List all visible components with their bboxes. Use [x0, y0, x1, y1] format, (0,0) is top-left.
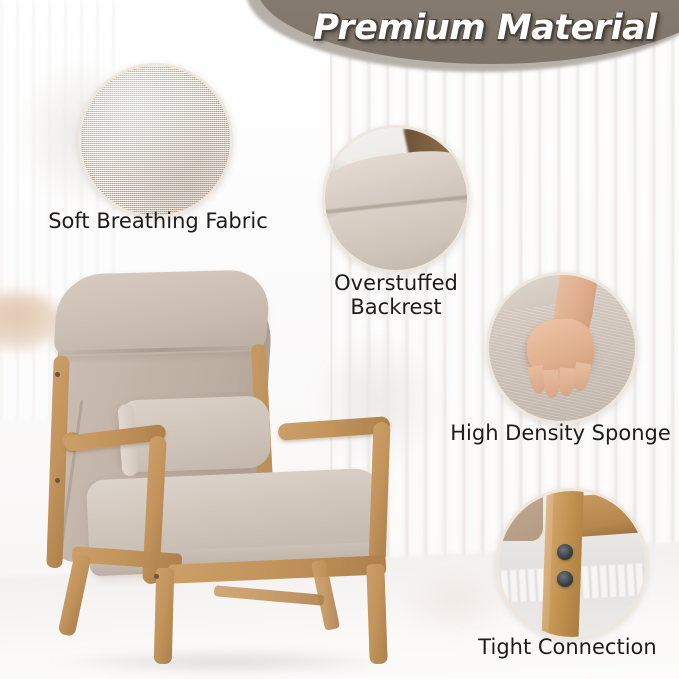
feature-label-high-density-sponge: High Density Sponge	[442, 422, 679, 446]
chair-floor-shadow	[52, 650, 402, 674]
feature-label-soft-breathing-fabric: Soft Breathing Fabric	[24, 210, 292, 234]
chair-leg-back-left	[58, 553, 92, 637]
chair-headrest	[53, 269, 270, 357]
chair-bolt-upper	[55, 372, 60, 377]
hand-finger-2	[544, 370, 560, 398]
hand-press-icon	[486, 272, 638, 424]
chair-arm-support-right	[369, 422, 391, 565]
connection-bolt-upper	[557, 544, 573, 560]
fabric-swatch-icon	[78, 63, 233, 218]
feature-label-tight-connection: Tight Connection	[456, 636, 679, 660]
product-chair-image	[28, 272, 428, 672]
fabric-sheen	[81, 66, 230, 215]
page-title: Premium Material	[300, 8, 670, 48]
chair-bolt-lower	[154, 574, 159, 579]
chair-leg-front-right	[366, 564, 387, 665]
bolt-joint-icon	[496, 488, 648, 640]
backrest-cushion-icon	[322, 125, 470, 273]
chair-stretcher-bar	[214, 585, 325, 606]
chair-leg-front-left	[154, 568, 175, 664]
chair-bolt-middle	[55, 478, 60, 483]
connection-photo-fabric	[496, 488, 543, 541]
product-infographic: Premium Material Soft Breathing F	[0, 0, 679, 679]
feature-label-overstuffed-backrest: Overstuffed Backrest	[306, 272, 486, 320]
